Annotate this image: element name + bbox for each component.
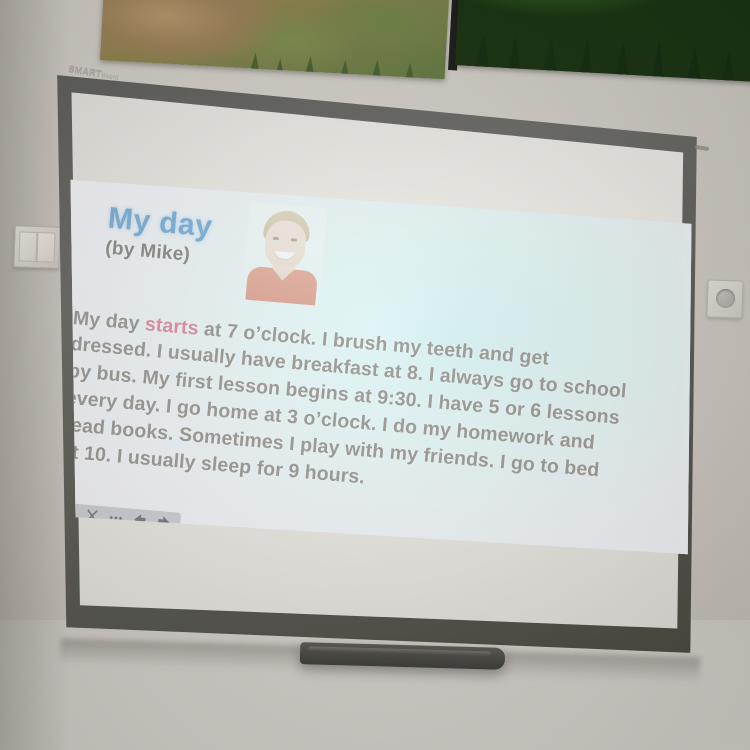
highlighted-word: starts xyxy=(144,313,199,340)
brand-logo-text: SMART xyxy=(68,63,103,78)
body-text-before: My day xyxy=(72,307,146,335)
student-photo xyxy=(241,202,327,306)
light-switch-rocker-left[interactable] xyxy=(18,231,37,262)
photo-eye-right xyxy=(291,238,297,242)
interactive-whiteboard[interactable]: SMARTBoard My day (by Mike) xyxy=(52,62,702,657)
slide-byline: (by Mike) xyxy=(104,238,191,267)
power-outlet xyxy=(706,279,743,318)
slide-body-text: My day starts at 7 o’clock. I brush my t… xyxy=(60,305,632,514)
photo-eye-left xyxy=(273,237,279,241)
projected-slide[interactable]: My day (by Mike) My day starts at 7 o’cl… xyxy=(68,172,694,562)
body-text-after: at 7 o’clock. I brush my teeth and get d… xyxy=(60,317,627,488)
brand-logo-subtext: Board xyxy=(101,72,119,81)
classroom-scene: SMARTBoard My day (by Mike) xyxy=(0,0,750,750)
whiteboard-status-indicator xyxy=(695,145,709,151)
outlet-socket xyxy=(716,289,736,309)
